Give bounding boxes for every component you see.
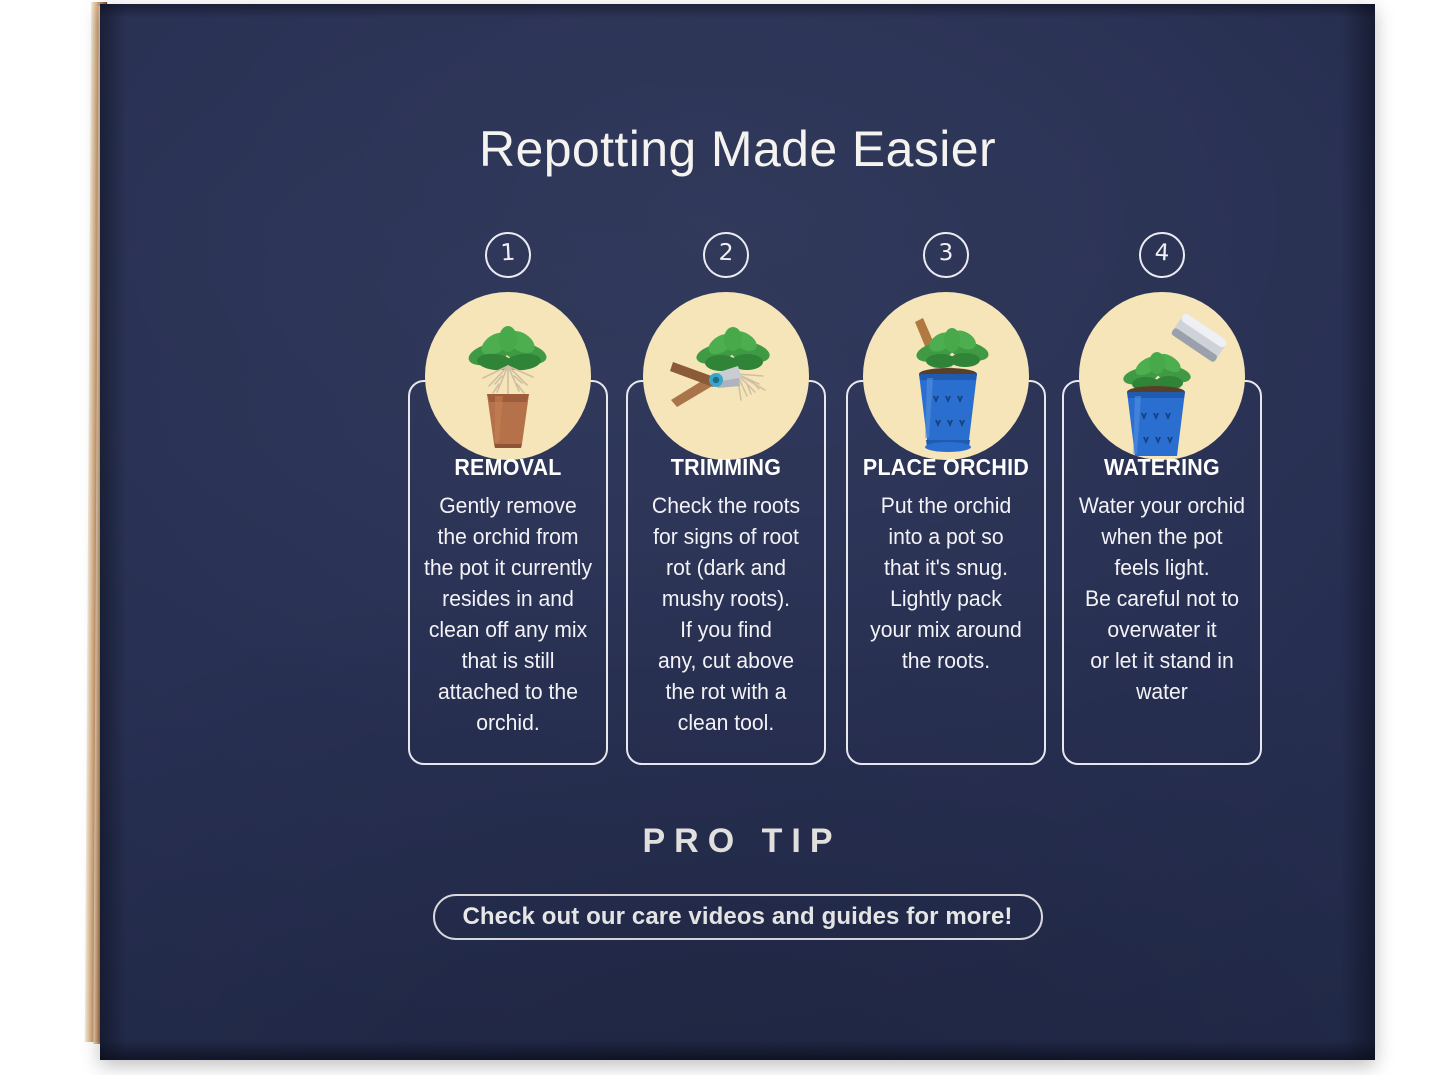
step-number-badge-1: 1 — [484, 231, 532, 279]
step-heading-2: TRIMMING — [633, 454, 819, 481]
product-photo-background: Repotting Made Easier 1 — [0, 0, 1445, 1075]
orchid-repotting-box-back-panel: Repotting Made Easier 1 — [100, 4, 1375, 1060]
step-heading-1: REMOVAL — [415, 454, 601, 481]
watering-can-pouring-into-blue-pot-icon — [1079, 292, 1245, 460]
step-number-badge-3: 3 — [922, 231, 970, 279]
step-2: 2 — [626, 232, 826, 772]
step-number-badge-4: 4 — [1138, 231, 1186, 279]
step-heading-3: PLACE ORCHID — [853, 454, 1039, 481]
step-heading-4: WATERING — [1069, 454, 1255, 481]
care-videos-cta-pill: Check out our care videos and guides for… — [433, 894, 1043, 940]
step-number-badge-2: 2 — [702, 231, 750, 279]
pro-tip-label: PRO TIP — [100, 822, 1375, 861]
panel-content: Repotting Made Easier 1 — [100, 4, 1375, 1060]
step-4: 4 — [1062, 232, 1262, 772]
panel-title: Repotting Made Easier — [100, 120, 1375, 178]
pruning-shears-trimming-roots-icon — [643, 292, 809, 460]
step-1: 1 — [408, 232, 608, 772]
step-body-1: Gently remove the orchid from the pot it… — [420, 490, 597, 738]
step-body-4: Water your orchid when the pot feels lig… — [1074, 490, 1251, 707]
step-body-3: Put the orchid into a pot so that it's s… — [858, 490, 1035, 676]
orchid-in-blue-pot-with-trowel-icon — [863, 292, 1029, 460]
steps-row: 1 — [400, 232, 1290, 772]
orchid-with-bare-roots-and-terracotta-pot-icon — [425, 292, 591, 460]
step-3: 3 — [846, 232, 1046, 772]
step-body-2: Check the roots for signs of root rot (d… — [638, 490, 815, 738]
